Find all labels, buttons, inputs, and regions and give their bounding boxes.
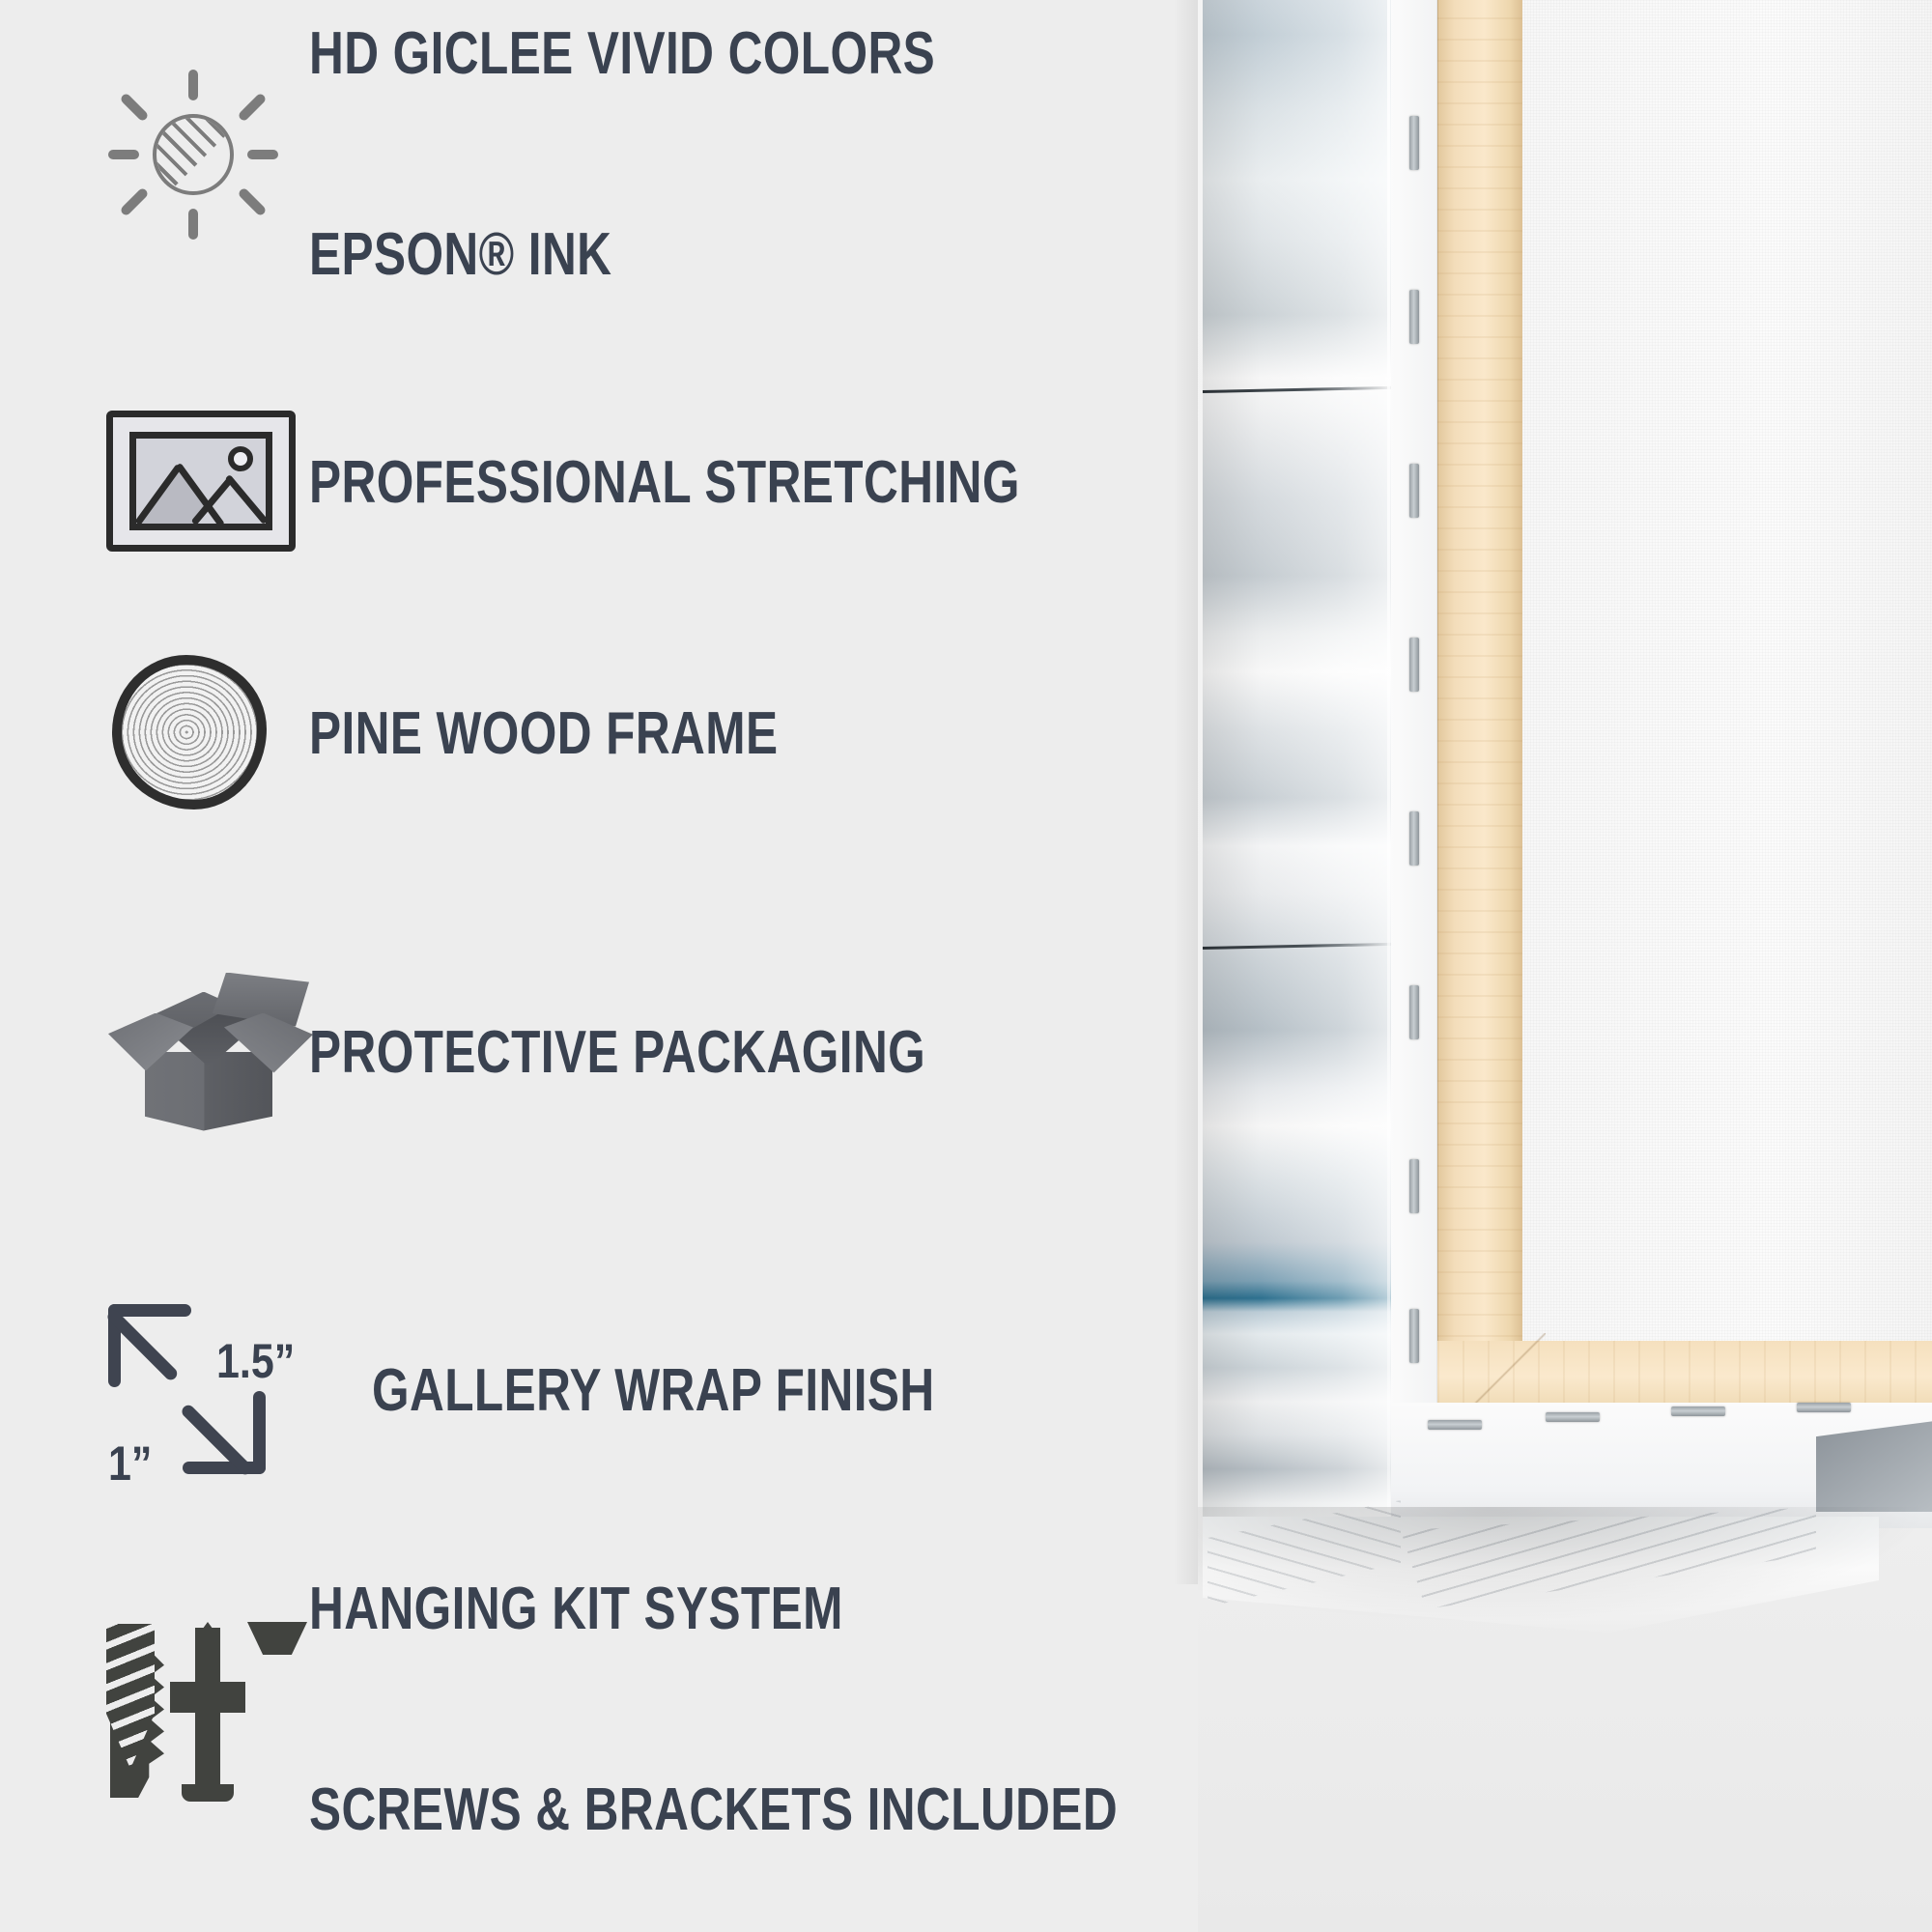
sun-ray bbox=[119, 186, 149, 216]
canvas-corner-fold bbox=[1387, 0, 1390, 1561]
ground-shadow bbox=[1198, 1507, 1932, 1623]
feature-label-line: SCREWS & BRACKETS INCLUDED bbox=[309, 1776, 1118, 1843]
nail-crosspiece bbox=[170, 1682, 245, 1713]
feature-label: PINE WOOD FRAME bbox=[309, 566, 778, 901]
sun-ray bbox=[247, 150, 278, 159]
nail-shaft bbox=[195, 1628, 220, 1798]
hanging-hardware-icon bbox=[106, 1608, 309, 1811]
feature-label-line: PROFESSIONAL STRETCHING bbox=[309, 449, 1020, 516]
feature-row-protective-packaging: PROTECTIVE PACKAGING bbox=[106, 956, 1080, 1150]
width-dimension-label: 1” bbox=[108, 1435, 152, 1492]
sun-ray bbox=[108, 150, 139, 159]
feature-row-hd-giclee: HD GICLEE VIVID COLORS EPSON® INK bbox=[106, 58, 1092, 251]
sun-ray bbox=[188, 70, 198, 100]
screw-head bbox=[247, 1622, 307, 1655]
sun-disc bbox=[153, 114, 234, 195]
sun-ray bbox=[237, 186, 267, 216]
staple bbox=[1409, 1309, 1419, 1363]
wrapped-edge-shading bbox=[1203, 0, 1396, 1551]
infographic-page: HD GICLEE VIVID COLORS EPSON® INK bbox=[0, 0, 1932, 1932]
picture-sun-circle bbox=[228, 446, 253, 471]
feature-label-line: HANGING KIT SYSTEM bbox=[309, 1576, 1118, 1642]
arrow-down-right-horizontal bbox=[183, 1462, 266, 1474]
feature-list: HD GICLEE VIVID COLORS EPSON® INK bbox=[0, 0, 1207, 1932]
pine-stretcher-bar-vertical bbox=[1437, 0, 1522, 1387]
feature-row-professional-stretching: PROFESSIONAL STRETCHING bbox=[106, 386, 1198, 580]
staple bbox=[1409, 638, 1419, 692]
tree-growth-rings bbox=[122, 665, 257, 800]
picture-inner-mat bbox=[129, 432, 272, 530]
tree-rings-icon bbox=[106, 647, 280, 821]
screw-head-slot bbox=[106, 1608, 118, 1624]
sun-ray bbox=[119, 92, 149, 122]
feature-label: HANGING KIT SYSTEM SCREWS & BRACKETS INC… bbox=[309, 1441, 1118, 1932]
staple bbox=[1409, 811, 1419, 866]
staple bbox=[1671, 1406, 1725, 1416]
feature-row-pine-wood-frame: PINE WOOD FRAME bbox=[106, 638, 895, 831]
feature-label-line: PINE WOOD FRAME bbox=[309, 700, 778, 767]
staple bbox=[1546, 1412, 1600, 1422]
feature-icon-cell bbox=[106, 58, 309, 251]
staple bbox=[1409, 985, 1419, 1039]
staple bbox=[1409, 1159, 1419, 1213]
feature-icon-cell bbox=[106, 956, 309, 1150]
feature-icon-cell bbox=[106, 1613, 309, 1806]
sun-ray bbox=[237, 92, 267, 122]
staple bbox=[1409, 464, 1419, 518]
feature-label-line: EPSON® INK bbox=[309, 221, 935, 288]
feature-row-hanging-kit: HANGING KIT SYSTEM SCREWS & BRACKETS INC… bbox=[106, 1613, 1320, 1806]
sun-ray bbox=[188, 209, 198, 240]
feature-icon-cell bbox=[106, 386, 309, 580]
staple bbox=[1409, 290, 1419, 344]
depth-dimension-label: 1.5” bbox=[216, 1333, 295, 1389]
sun-uv-icon bbox=[106, 68, 280, 241]
nail-base bbox=[182, 1784, 234, 1802]
staple bbox=[1409, 116, 1419, 170]
staple bbox=[1428, 1420, 1482, 1430]
sun-hatching bbox=[153, 114, 234, 195]
feature-label-line: PROTECTIVE PACKAGING bbox=[309, 1019, 925, 1086]
feature-label: PROTECTIVE PACKAGING bbox=[309, 885, 925, 1220]
staple bbox=[1797, 1403, 1851, 1412]
feature-label-line: GALLERY WRAP FINISH bbox=[372, 1357, 935, 1424]
canvas-staple-gutter bbox=[1391, 0, 1437, 1522]
framed-picture-icon bbox=[106, 411, 299, 555]
open-box-icon bbox=[106, 969, 309, 1138]
feature-label-line: HD GICLEE VIVID COLORS bbox=[309, 20, 935, 87]
feature-icon-cell bbox=[106, 638, 309, 831]
